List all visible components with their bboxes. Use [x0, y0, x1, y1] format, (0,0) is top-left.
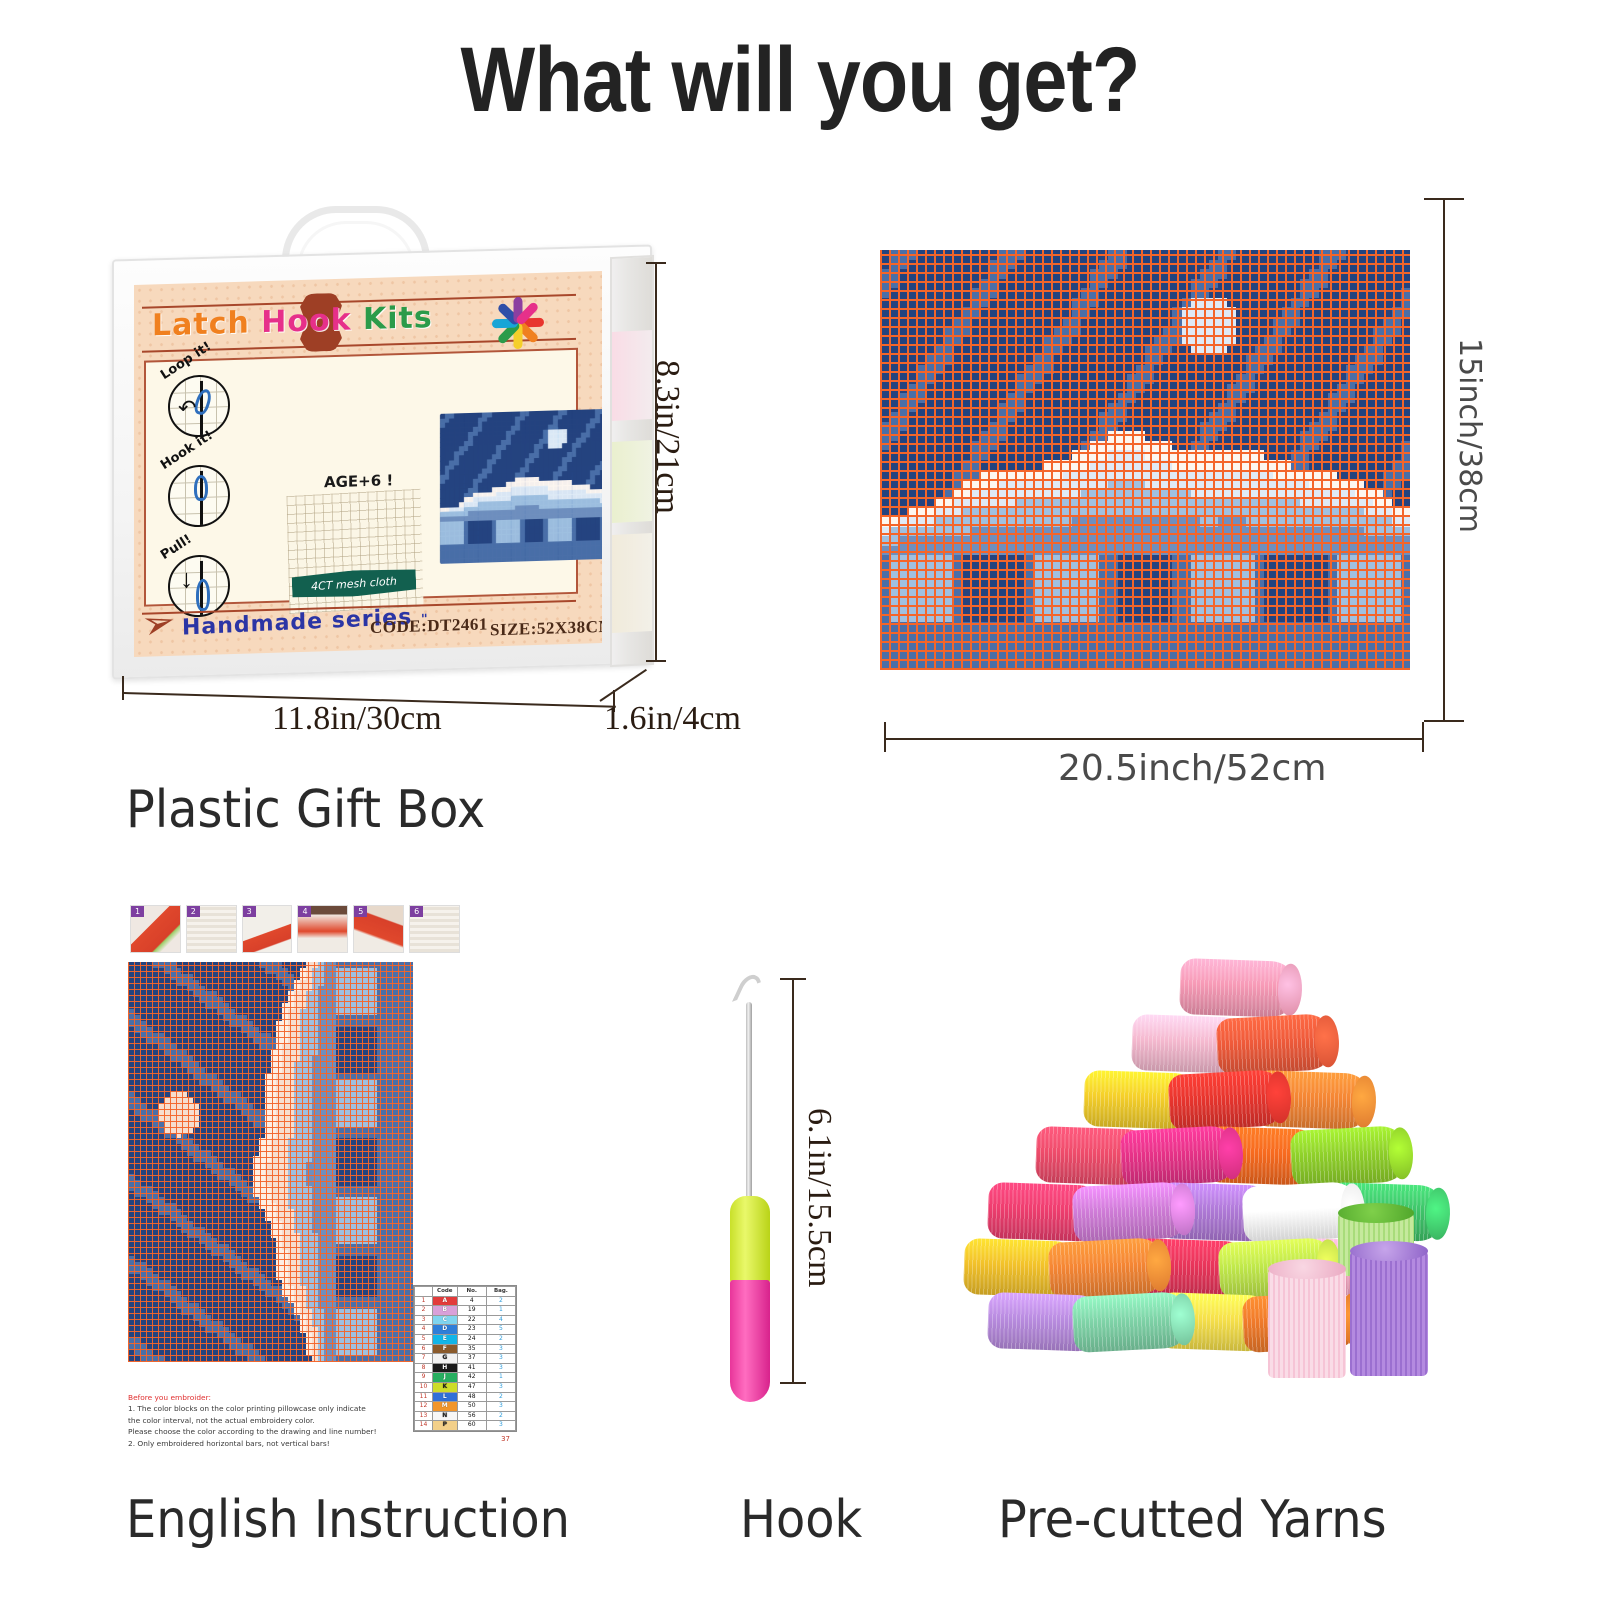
- legend-row: 7G373: [415, 1354, 516, 1364]
- step-thumbnail-number: 4: [298, 906, 311, 917]
- box-width-label: 11.8in/30cm: [272, 700, 442, 738]
- step-diagram-hook: [168, 464, 230, 528]
- legend-table: Code No. Bag. 1A422B1913C2244D2355E2426F…: [414, 1286, 516, 1431]
- legend-cell-bag: 3: [486, 1421, 515, 1431]
- legend-cell-index: 6: [415, 1344, 433, 1354]
- legend-header-row: Code No. Bag.: [415, 1287, 516, 1297]
- legend-row: 2B191: [415, 1306, 516, 1316]
- step-thumbnail: 5: [353, 905, 404, 953]
- legend-cell-code: M: [432, 1402, 457, 1412]
- page-title: What will you get?: [112, 28, 1488, 133]
- box-inner-card: Loop it! ↶ Hook it! Pull!: [144, 348, 578, 607]
- before-you-embroider-note: Before you embroider: 1. The color block…: [128, 1392, 390, 1449]
- legend-cell-index: 2: [415, 1306, 433, 1316]
- yarn-bundle: [1168, 1069, 1289, 1131]
- step-thumbnail-number: 1: [131, 906, 144, 917]
- legend-cell-index: 9: [415, 1373, 433, 1383]
- legend-row: 11L482: [415, 1392, 516, 1402]
- caption-plastic-gift-box: Plastic Gift Box: [126, 780, 485, 840]
- yarn-bundle: [1120, 1125, 1241, 1187]
- legend-cell-code: F: [432, 1344, 457, 1354]
- legend-header-code: Code: [432, 1287, 457, 1297]
- english-instruction-sheet: 123456 Code No. Bag. 1A422B1913C2244D235…: [125, 900, 525, 1480]
- legend-header-bag: Bag.: [486, 1287, 515, 1297]
- step-thumbnail-number: 3: [243, 906, 256, 917]
- legend-row: 3C224: [415, 1315, 516, 1325]
- before-line-4: 2. Only embroidered horizontal bars, not…: [128, 1438, 390, 1449]
- color-legend-table: Code No. Bag. 1A422B1913C2244D2355E2426F…: [413, 1285, 517, 1432]
- step-thumbnail: 2: [186, 905, 237, 953]
- infographic-page: What will you get? Latch Hook Kits Loop …: [0, 0, 1600, 1600]
- before-line-2: the color interval, not the actual embro…: [128, 1415, 390, 1426]
- legend-cell-index: 11: [415, 1392, 433, 1402]
- legend-cell-index: 14: [415, 1421, 433, 1431]
- printed-mesh-canvas: [880, 250, 1410, 670]
- box-depth-label: 1.6in/4cm: [604, 700, 741, 738]
- caption-english-instruction: English Instruction: [126, 1490, 570, 1550]
- plastic-gift-box-image: Latch Hook Kits Loop it! ↶ Hook it!: [112, 200, 652, 700]
- legend-cell-bag: 2: [486, 1334, 515, 1344]
- legend-cell-index: 13: [415, 1411, 433, 1421]
- legend-cell-code: P: [432, 1421, 457, 1431]
- legend-cell-index: 12: [415, 1402, 433, 1412]
- step-thumbnail: 1: [130, 905, 181, 953]
- legend-cell-code: E: [432, 1334, 457, 1344]
- step-diagram-loop: ↶: [168, 374, 230, 438]
- legend-cell-code: A: [432, 1296, 457, 1306]
- legend-row: 4D235: [415, 1325, 516, 1335]
- legend-cell-no: 37: [457, 1354, 486, 1364]
- yarn-bundle: [1072, 1291, 1193, 1353]
- canvas-width-label: 20.5inch/52cm: [1058, 748, 1326, 789]
- yarn-bundle-standing-purple: [1350, 1250, 1428, 1376]
- legend-cell-bag: 3: [486, 1354, 515, 1364]
- legend-cell-index: 1: [415, 1296, 433, 1306]
- legend-cell-index: 8: [415, 1363, 433, 1373]
- step-thumbnail-number: 6: [410, 906, 423, 917]
- step-thumbnail: 6: [409, 905, 460, 953]
- legend-cell-bag: 2: [486, 1392, 515, 1402]
- hook-shaft: [746, 1002, 752, 1202]
- legend-header-index: [415, 1287, 433, 1297]
- legend-cell-code: D: [432, 1325, 457, 1335]
- product-size: SIZE:52X38CM: [490, 617, 602, 641]
- caption-hook: Hook: [740, 1490, 862, 1550]
- yarn-bundle: [1179, 958, 1299, 1018]
- brand-word-kits: Kits: [363, 300, 433, 337]
- product-code: CODE:DT2461: [370, 614, 488, 637]
- yarn-bundle: [1216, 1013, 1337, 1075]
- canvas-height-label: 15inch/38cm: [1452, 338, 1487, 533]
- yarn-bundle-standing: [1268, 1268, 1346, 1378]
- legend-row: 10K473: [415, 1382, 516, 1392]
- legend-cell-no: 35: [457, 1344, 486, 1354]
- legend-row: 1A42: [415, 1296, 516, 1306]
- box-artwork-preview: [440, 408, 602, 564]
- before-line-1: 1. The color blocks on the color printin…: [128, 1403, 390, 1414]
- legend-cell-bag: 3: [486, 1382, 515, 1392]
- step-photo-thumbnails: 123456: [130, 905, 460, 957]
- legend-cell-no: 47: [457, 1382, 486, 1392]
- legend-cell-index: 7: [415, 1354, 433, 1364]
- brand-word-hook: Hook: [261, 302, 351, 340]
- legend-cell-bag: 1: [486, 1306, 515, 1316]
- legend-cell-bag: 2: [486, 1296, 515, 1306]
- legend-row: 5E242: [415, 1334, 516, 1344]
- caption-pre-cutted-yarns: Pre-cutted Yarns: [998, 1490, 1386, 1550]
- legend-cell-code: B: [432, 1306, 457, 1316]
- legend-row: 12M503: [415, 1402, 516, 1412]
- step-thumbnail-number: 2: [187, 906, 200, 917]
- yarn-bundle: [1289, 1125, 1410, 1187]
- step-thumbnail-number: 5: [354, 906, 367, 917]
- step-thumbnail: 4: [297, 905, 348, 953]
- legend-cell-no: 41: [457, 1363, 486, 1373]
- legend-cell-code: H: [432, 1363, 457, 1373]
- legend-cell-no: 22: [457, 1315, 486, 1325]
- legend-cell-bag: 2: [486, 1411, 515, 1421]
- legend-cell-code: J: [432, 1373, 457, 1383]
- legend-cell-no: 56: [457, 1411, 486, 1421]
- yarn-bundle: [1048, 1237, 1169, 1299]
- legend-cell-bag: 4: [486, 1315, 515, 1325]
- legend-cell-no: 23: [457, 1325, 486, 1335]
- legend-cell-index: 10: [415, 1382, 433, 1392]
- brand-word-latch: Latch: [152, 306, 250, 344]
- yarn-bundle: [1072, 1181, 1193, 1243]
- legend-cell-no: 48: [457, 1392, 486, 1402]
- legend-row: 14P603: [415, 1421, 516, 1431]
- legend-cell-bag: 5: [486, 1325, 515, 1335]
- legend-cell-code: G: [432, 1354, 457, 1364]
- legend-cell-index: 4: [415, 1325, 433, 1335]
- legend-cell-no: 19: [457, 1306, 486, 1316]
- legend-cell-code: C: [432, 1315, 457, 1325]
- box-printed-face: Latch Hook Kits Loop it! ↶ Hook it!: [134, 271, 602, 657]
- legend-cell-bag: 3: [486, 1363, 515, 1373]
- age-recommendation: AGE+6 !: [324, 471, 393, 491]
- legend-cell-code: N: [432, 1411, 457, 1421]
- before-line-3: Please choose the color according to the…: [128, 1426, 390, 1437]
- legend-cell-code: K: [432, 1382, 457, 1392]
- before-heading: Before you embroider:: [128, 1392, 390, 1403]
- legend-cell-bag: 3: [486, 1402, 515, 1412]
- instruction-pattern-chart: [128, 962, 413, 1362]
- legend-cell-no: 50: [457, 1402, 486, 1412]
- legend-cell-index: 3: [415, 1315, 433, 1325]
- legend-row: 8H413: [415, 1363, 516, 1373]
- legend-cell-no: 60: [457, 1421, 486, 1431]
- legend-cell-code: L: [432, 1392, 457, 1402]
- legend-cell-no: 42: [457, 1373, 486, 1383]
- hook-length-label: 6.1in/15.5cm: [800, 1108, 838, 1287]
- legend-cell-bag: 3: [486, 1344, 515, 1354]
- legend-cell-no: 24: [457, 1334, 486, 1344]
- box-height-label: 8.3in/21cm: [648, 360, 686, 514]
- legend-cell-bag: 1: [486, 1373, 515, 1383]
- legend-row: 13N562: [415, 1411, 516, 1421]
- legend-row: 9J421: [415, 1373, 516, 1383]
- latch-hook-tool: [700, 960, 890, 1400]
- legend-row: 6F353: [415, 1344, 516, 1354]
- legend-header-no: No.: [457, 1287, 486, 1297]
- pinwheel-logo-icon: [489, 289, 547, 349]
- legend-total: 37: [501, 1435, 510, 1443]
- pre-cutted-yarns-image: [950, 950, 1470, 1400]
- hook-grip-upper: [730, 1196, 770, 1284]
- mesh-gridlines: [880, 250, 1410, 670]
- legend-cell-no: 4: [457, 1296, 486, 1306]
- step-thumbnail: 3: [242, 905, 293, 953]
- legend-cell-index: 5: [415, 1334, 433, 1344]
- hook-grip-lower: [730, 1280, 770, 1402]
